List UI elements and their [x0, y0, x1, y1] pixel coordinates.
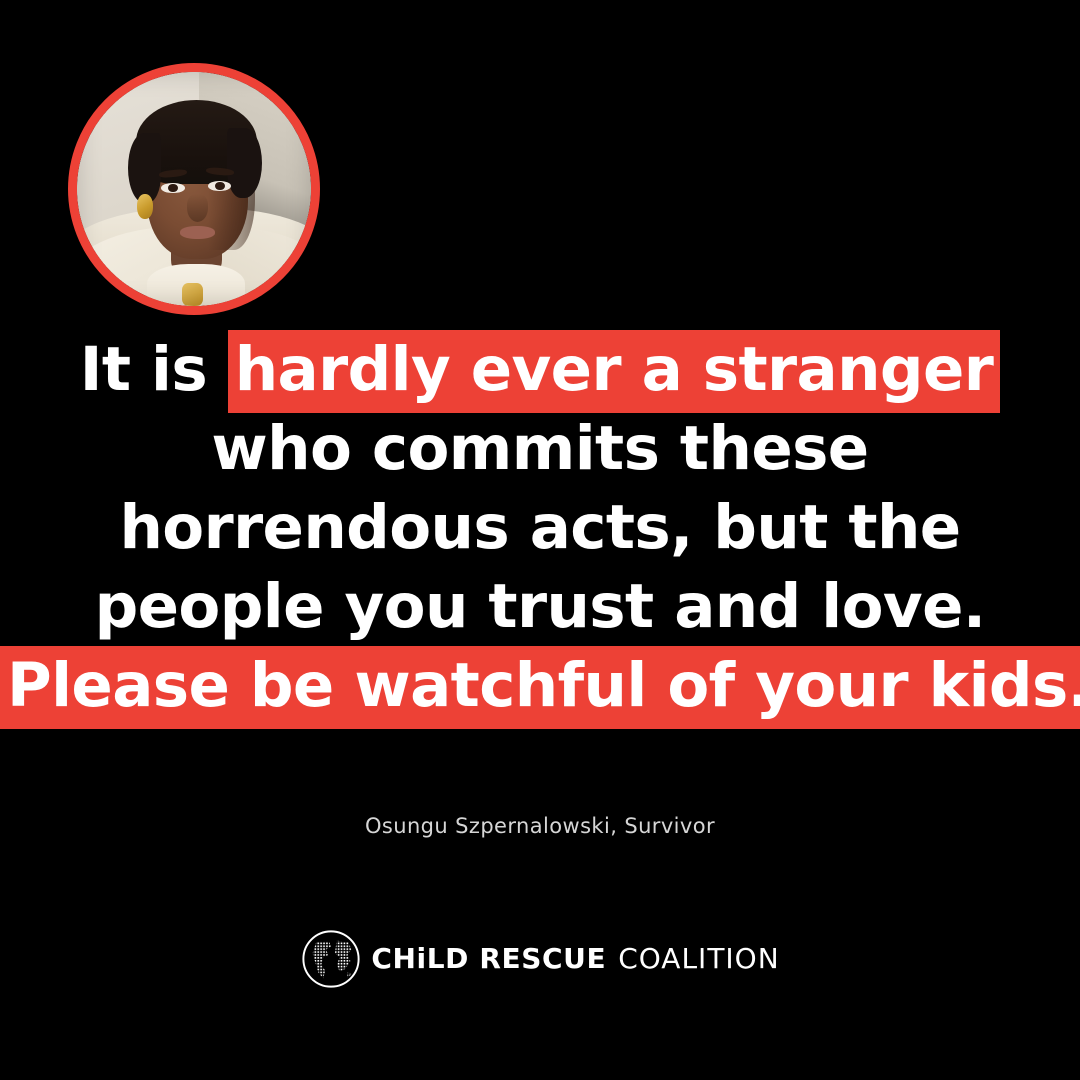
quote-line-5-highlight: Please be watchful of your kids.: [0, 646, 1080, 729]
brand-logo: CHiLD RESCUE COALITION: [0, 928, 1080, 990]
quote-line-3: horrendous acts, but the: [0, 488, 1080, 567]
globe-icon: [300, 928, 362, 990]
logo-wordmark: CHiLD RESCUE COALITION: [371, 945, 779, 973]
quote-line-1: It is hardly ever a stranger: [0, 330, 1080, 409]
globe-americas: [313, 942, 331, 979]
quote-line-1-highlight: hardly ever a stranger: [228, 330, 1001, 413]
avatar-photo: [77, 72, 311, 306]
quote-line-4: people you trust and love.: [0, 567, 1080, 646]
avatar: [68, 63, 320, 315]
logo-word-child-rescue: CHiLD RESCUE: [371, 945, 606, 973]
photo-vignette: [77, 72, 311, 306]
quote-line-1-plain: It is: [80, 334, 228, 405]
quote-poster: It is hardly ever a stranger who commits…: [0, 0, 1080, 1080]
quote-line-5: Please be watchful of your kids.: [0, 646, 1080, 725]
globe-africa-eurasia: [335, 941, 351, 972]
quote-text: It is hardly ever a stranger who commits…: [0, 330, 1080, 725]
attribution: Osungu Szpernalowski, Survivor: [0, 814, 1080, 838]
logo-word-coalition: COALITION: [618, 945, 779, 973]
quote-line-2: who commits these: [0, 409, 1080, 488]
